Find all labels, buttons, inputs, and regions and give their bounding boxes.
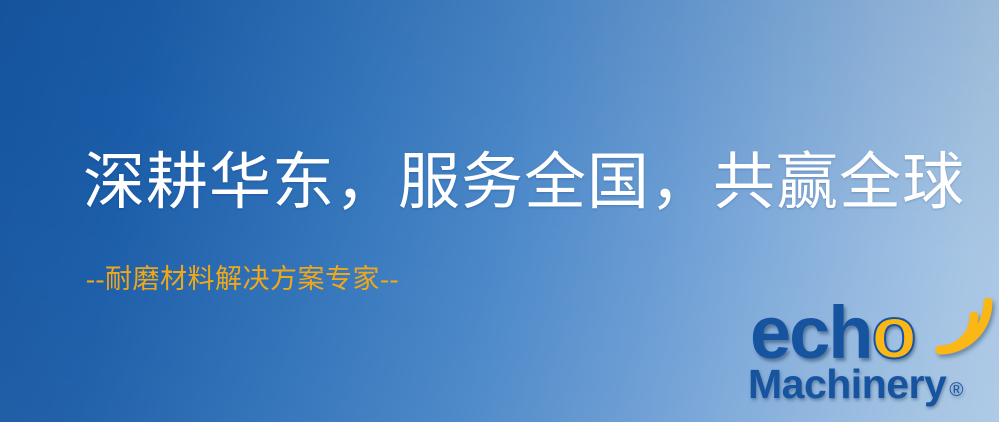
promo-banner: 深耕华东，服务全国，共赢全球 --耐磨材料解决方案专家-- echo Machi…: [0, 0, 999, 422]
banner-subtitle: --耐磨材料解决方案专家--: [86, 266, 399, 293]
logo-wordmark: echo: [750, 296, 915, 370]
registered-trademark-icon: ®: [949, 380, 963, 401]
echo-machinery-logo[interactable]: echo Machinery®: [742, 296, 994, 416]
banner-headline: 深耕华东，服务全国，共赢全球: [83, 152, 965, 214]
logo-subtext: Machinery®: [748, 364, 963, 405]
logo-subtext-label: Machinery: [748, 361, 946, 407]
signal-wave-icon: [928, 298, 994, 358]
